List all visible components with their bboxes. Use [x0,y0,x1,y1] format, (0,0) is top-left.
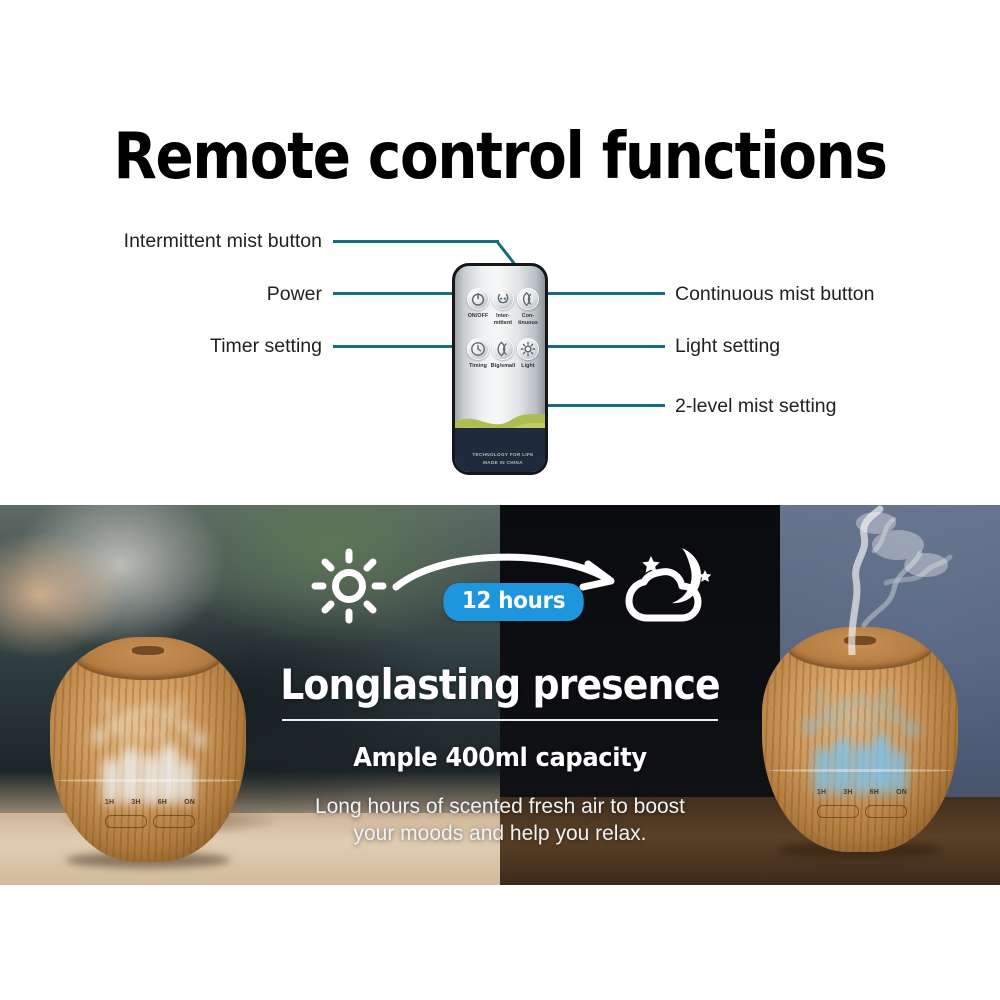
power-button[interactable] [467,288,489,310]
continuous-button[interactable] [517,288,539,310]
headline-divider [282,719,718,721]
remote-brand-tagline: TECHNOLOGY FOR LIFE [455,452,548,457]
callout-label-timer-setting: Timer setting [210,337,322,357]
bigsmall-button[interactable] [492,338,514,360]
sun-light-icon [517,338,539,360]
connector-line-timer [333,345,465,348]
remote-origin-text: MADE IN CHINA [455,460,548,465]
callout-label-light-setting: Light setting [675,337,780,357]
continuous-label-line2: tinuous [511,320,545,327]
lifestyle-photo-band: 1H 3H 6H ON [0,505,1000,885]
connector-line-continuous [546,292,665,295]
remote-control: ON/OFF Inter- mittent Con- tinuous Timin… [452,263,548,475]
light-button-label: Light [511,363,545,370]
photo-overlay-content: 12 hours Longlasting presence Ample 400m… [0,505,1000,885]
duration-badge: 12 hours [443,583,584,621]
subheadline: Ample 400ml capacity [35,743,965,773]
intermittent-button[interactable] [492,288,514,310]
clock-icon [467,338,489,360]
light-button[interactable] [517,338,539,360]
page-title: Remote control functions [60,120,940,194]
body-text-line1: Long hours of scented fresh air to boost [0,795,1000,819]
continuous-mist-icon [517,288,539,310]
remote-functions-section: Remote control functions Intermittent mi… [0,0,1000,505]
callout-label-continuous-mist: Continuous mist button [675,285,874,305]
continuous-button-label: Con- tinuous [511,313,545,326]
intermittent-mist-icon [492,288,514,310]
callout-label-power: Power [267,285,322,305]
headline: Longlasting presence [50,660,950,709]
continuous-label-line1: Con- [511,313,545,320]
remote-faceplate: ON/OFF Inter- mittent Con- tinuous Timin… [455,266,545,472]
connector-line-intermittent [333,240,499,243]
mist-level-icon [492,338,514,360]
callout-label-intermittent-mist: Intermittent mist button [124,232,322,252]
moon-cloud-stars-icon [620,540,720,630]
body-text-line2: your moods and help you relax. [0,822,1000,846]
light-label-line1: Light [511,363,545,370]
callout-label-2-level-mist: 2-level mist setting [675,397,836,417]
connector-line-2level [541,404,665,407]
connector-line-light [546,345,665,348]
timing-button[interactable] [467,338,489,360]
power-icon [467,288,489,310]
connector-line-power [333,292,465,295]
sun-icon [310,547,388,625]
